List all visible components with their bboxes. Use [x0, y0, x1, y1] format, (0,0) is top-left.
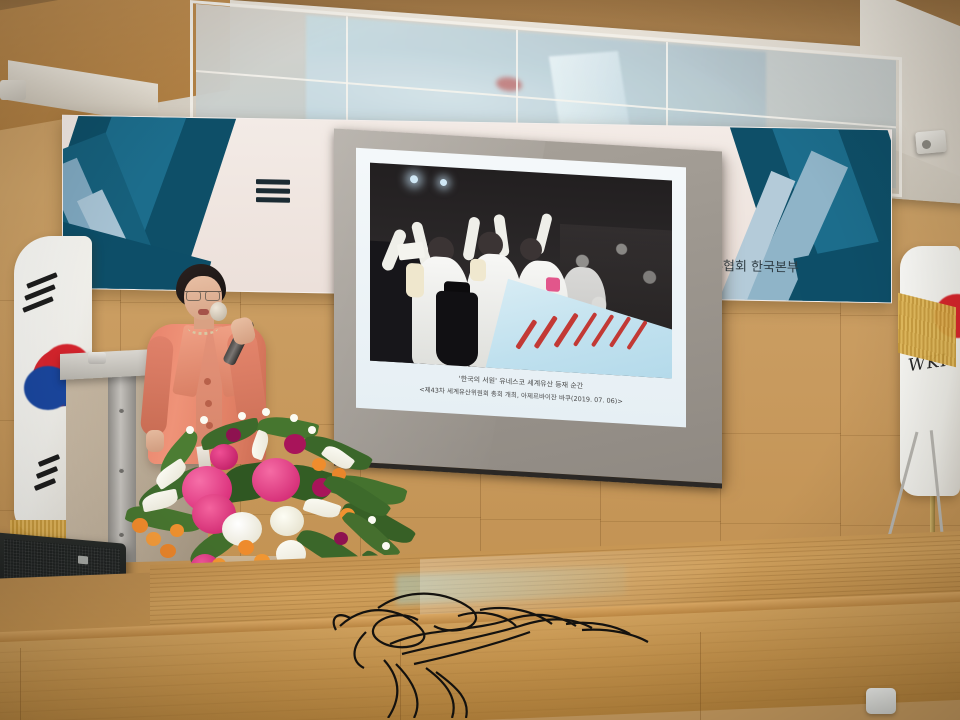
- filler-bloom: [308, 426, 316, 434]
- projected-slide: '한국의 서원' 유네스코 세계유산 등재 순간 <제43차 세계유산위원회 총…: [356, 148, 686, 428]
- white-cap-object: [866, 688, 896, 714]
- lily-bloom: [270, 506, 304, 536]
- slide-hanbok-sash: [470, 259, 486, 282]
- podium-mic-base: [88, 352, 106, 364]
- orange-bloom: [170, 524, 184, 537]
- presenter-mouth: [198, 309, 209, 315]
- slide-photograph: [370, 163, 672, 379]
- orange-bloom: [312, 458, 326, 471]
- slide-person-head: [520, 238, 542, 261]
- slide-stage-light-icon: [410, 175, 418, 183]
- orange-bloom: [146, 532, 161, 546]
- orange-bloom: [132, 518, 148, 533]
- stage-cables: [330, 568, 750, 718]
- carnation-bloom: [210, 444, 238, 470]
- jacket-button: [205, 400, 212, 407]
- photograph-of-lecture-event: 국제여성 | 일 시 | 2020년 5 성교류협회 한국본부: [0, 0, 960, 720]
- peony-bloom: [252, 458, 300, 502]
- slide-pink-accent: [546, 277, 560, 292]
- microphone-icon: [210, 302, 227, 321]
- pa-speaker-badge: [78, 556, 88, 565]
- orange-bloom: [238, 540, 254, 555]
- wall-sensor: [915, 130, 947, 155]
- wall-tile: [720, 433, 841, 524]
- filler-bloom: [262, 408, 270, 416]
- presenter-necklace: [188, 322, 218, 335]
- wall-tile: [720, 313, 841, 434]
- small-bloom: [226, 428, 241, 442]
- filler-bloom: [290, 414, 298, 422]
- slide-phone-screen: [397, 242, 425, 261]
- filler-bloom: [238, 412, 246, 420]
- filler-bloom: [200, 416, 208, 424]
- orange-bloom: [160, 544, 176, 558]
- filler-bloom: [382, 542, 390, 550]
- eyeglasses-icon: [185, 291, 221, 300]
- slide-hanbok-sash: [406, 263, 424, 298]
- jacket-button: [204, 378, 211, 385]
- filler-bloom: [186, 426, 194, 434]
- slide-camera-icon: [436, 291, 478, 367]
- wall-sensor-lens-icon: [922, 140, 931, 149]
- slide-stage-light-icon: [440, 179, 447, 186]
- wall-sensor-secondary: [0, 80, 26, 100]
- carnation-bloom: [284, 434, 306, 454]
